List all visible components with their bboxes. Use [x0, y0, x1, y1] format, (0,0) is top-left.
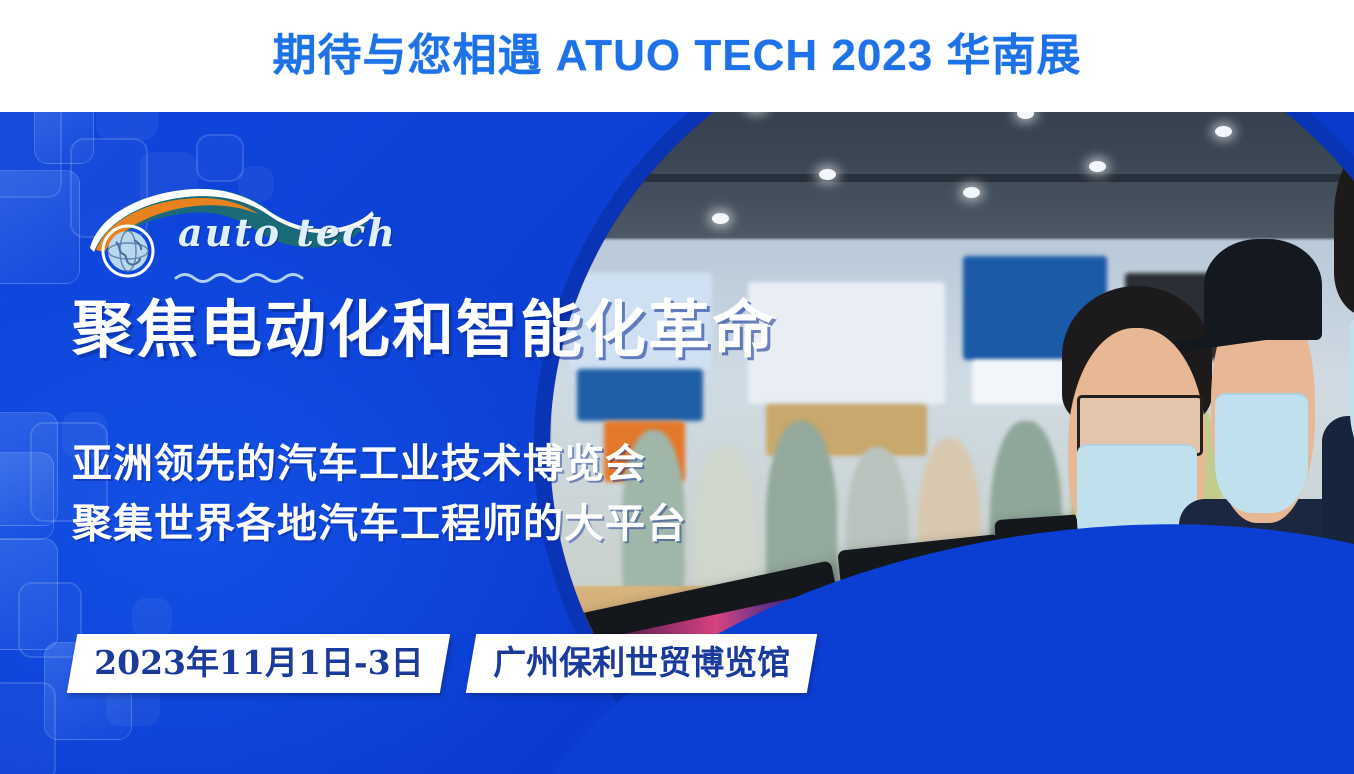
event-venue-badge: 广州保利世贸博览馆	[466, 634, 817, 693]
logo-wordmark: auto tech	[178, 210, 397, 255]
auto-tech-logo: auto tech	[72, 174, 392, 284]
ceiling-lamp	[1089, 161, 1106, 172]
event-date-badge: 2023年11月1日-3日	[67, 634, 451, 693]
hair	[1334, 117, 1354, 316]
event-venue-text: 广州保利世贸博览馆	[494, 646, 791, 679]
poster: 期待与您相遇 ATUO TECH 2023 华南展	[0, 0, 1354, 774]
event-info-badges: 2023年11月1日-3日 广州保利世贸博览馆	[72, 634, 812, 693]
ceiling-lamp	[963, 187, 980, 198]
header-band: 期待与您相遇 ATUO TECH 2023 华南展	[0, 0, 1354, 112]
headline: 聚焦电动化和智能化革命	[72, 300, 776, 362]
content-column: auto tech 聚焦电动化和智能化革命 亚洲领先的汽车工业技术博览会 聚集世…	[0, 112, 800, 774]
baseball-cap	[1204, 239, 1323, 339]
ceiling-lamp	[1215, 126, 1232, 137]
event-date-text: 2023年11月1日-3日	[94, 646, 423, 679]
subheadline-line-2: 聚集世界各地汽车工程师的大平台	[72, 504, 687, 544]
page-title: 期待与您相遇 ATUO TECH 2023 华南展	[273, 34, 1082, 78]
face-mask	[1215, 393, 1308, 513]
main-stage: TIANMA	[0, 112, 1354, 774]
subheadline-line-1: 亚洲领先的汽车工业技术博览会	[72, 444, 646, 484]
